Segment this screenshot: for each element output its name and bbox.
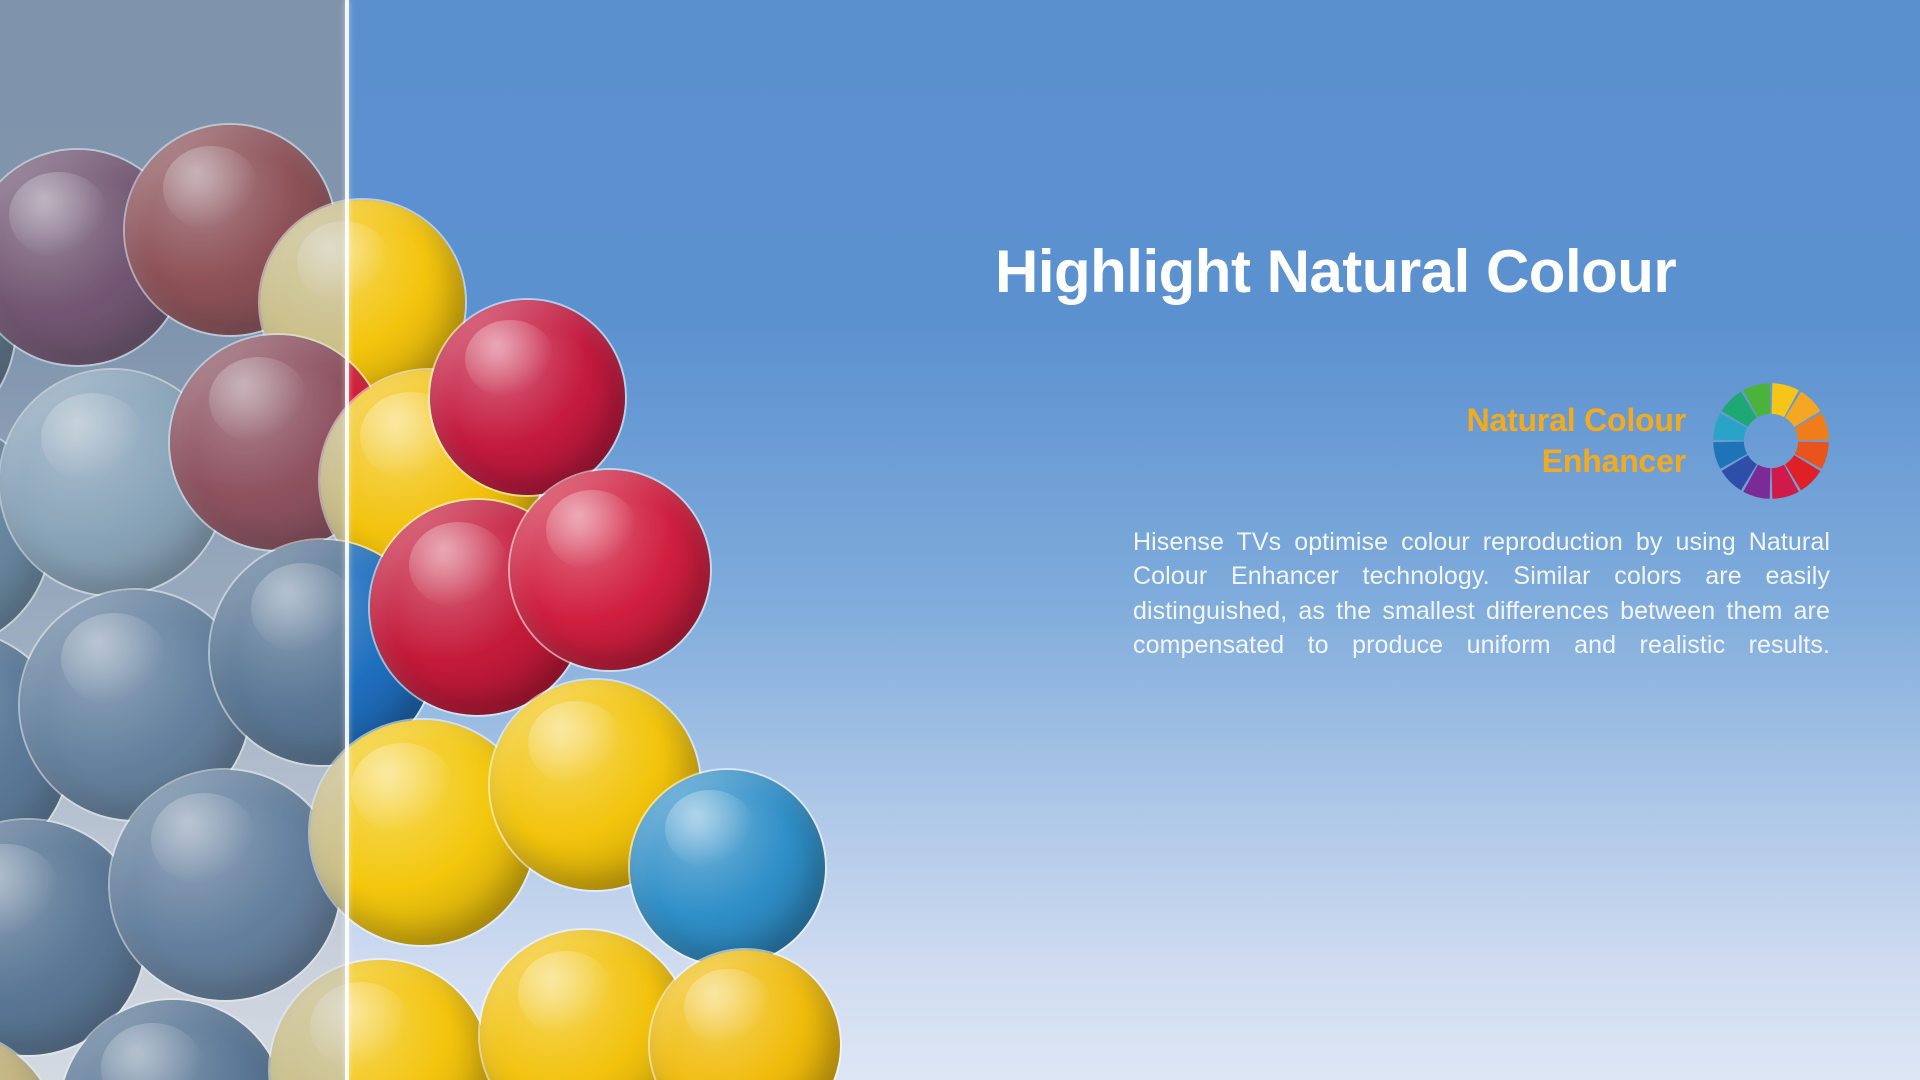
balloon-highlight [684, 969, 771, 1045]
balloon [650, 950, 840, 1080]
text-content-column: Highlight Natural Colour Natural Colour … [1000, 0, 1830, 1080]
balloon-highlight [518, 951, 615, 1035]
balloon [630, 770, 825, 965]
balloon-highlight [351, 743, 455, 833]
feature-description: Hisense TVs optimise colour reproduction… [1133, 525, 1830, 696]
muted-colour-half-overlay [0, 0, 347, 1080]
color-wheel-icon [1712, 382, 1830, 500]
balloon-highlight [665, 790, 755, 868]
balloon-highlight [546, 490, 638, 570]
brand-feature-row: Natural Colour Enhancer [1150, 382, 1830, 500]
balloon-highlight [465, 320, 555, 398]
comparison-divider [345, 0, 349, 1080]
balloon-highlight [409, 522, 508, 608]
balloon-highlight [528, 701, 625, 785]
page-title: Highlight Natural Colour [995, 240, 1830, 303]
feature-brand-label: Natural Colour Enhancer [1467, 400, 1686, 482]
banner-stage: Highlight Natural Colour Natural Colour … [0, 0, 1920, 1080]
balloon [430, 300, 625, 495]
balloon [510, 470, 710, 670]
